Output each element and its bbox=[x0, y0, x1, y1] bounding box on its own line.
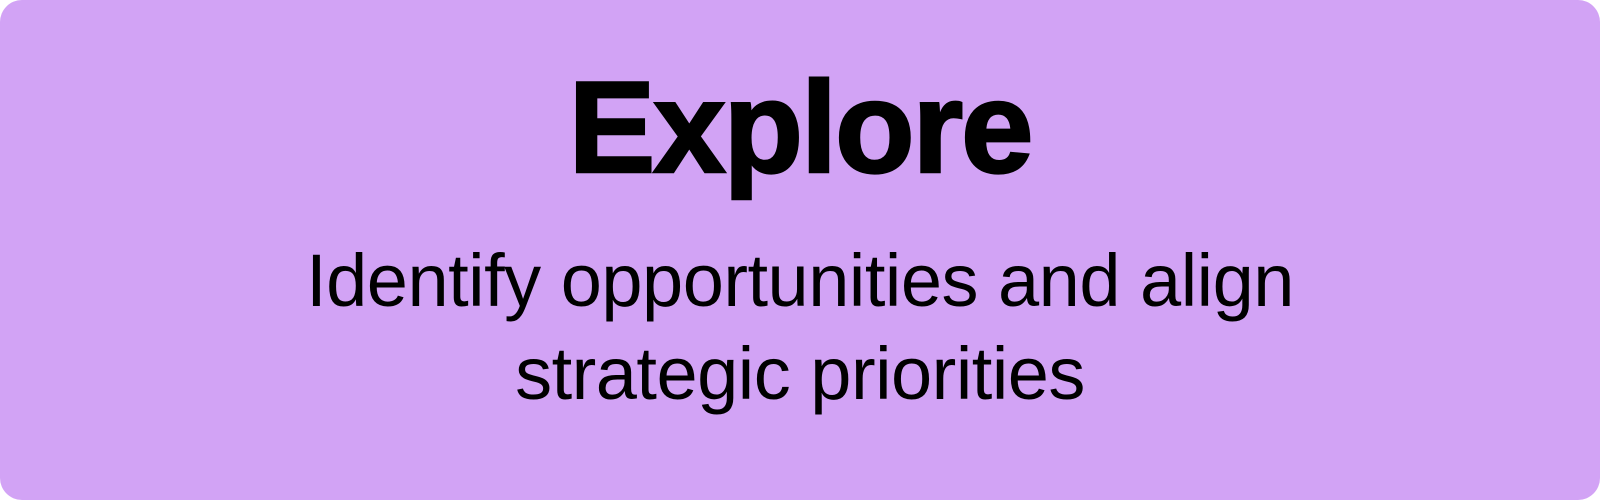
card-subtitle: Identify opportunities and align strateg… bbox=[230, 234, 1370, 420]
explore-card[interactable]: Explore Identify opportunities and align… bbox=[0, 0, 1600, 500]
card-subtitle-line-2: strategic priorities bbox=[230, 327, 1370, 420]
card-subtitle-line-1: Identify opportunities and align bbox=[230, 234, 1370, 327]
page-title: Explore bbox=[0, 62, 1600, 192]
card-content: Explore Identify opportunities and align… bbox=[0, 0, 1600, 420]
